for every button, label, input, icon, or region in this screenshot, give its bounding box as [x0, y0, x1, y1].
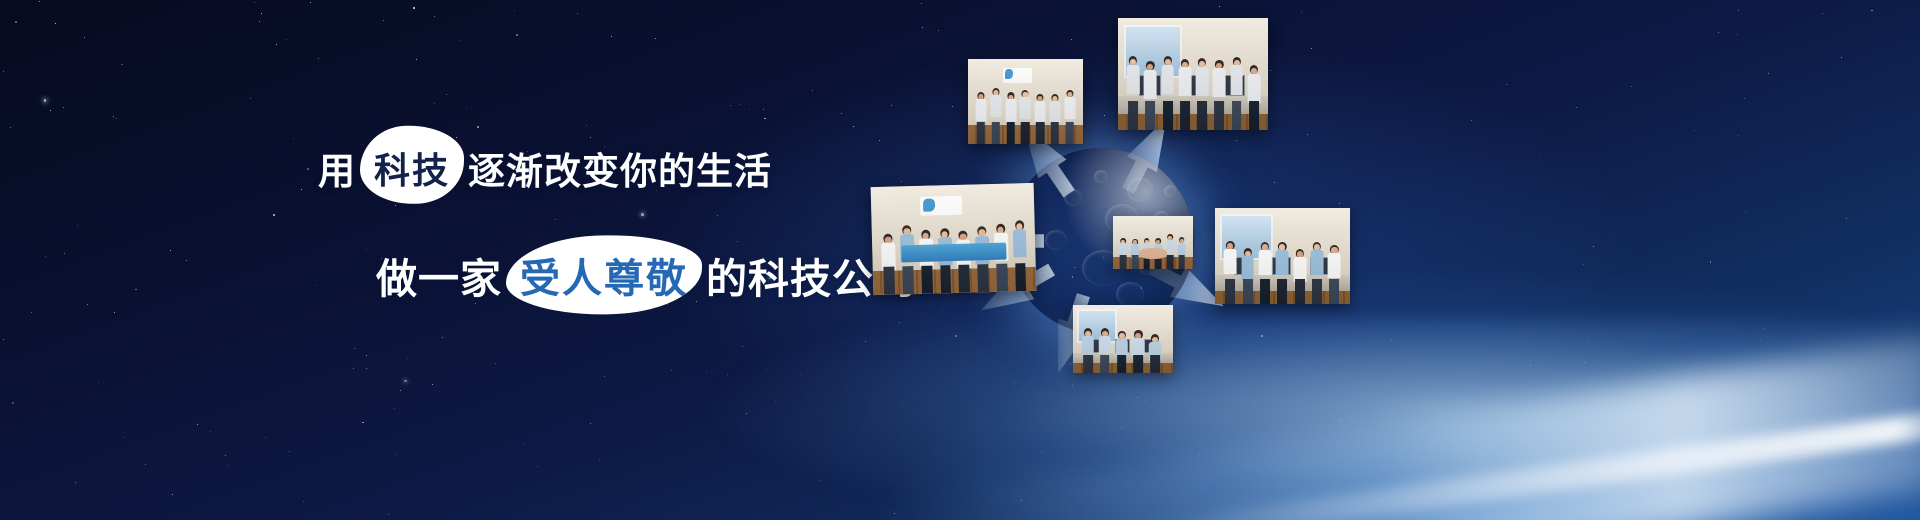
headline-1-highlight: 科技	[360, 140, 464, 196]
star	[1105, 393, 1106, 394]
star	[1593, 246, 1594, 247]
star	[286, 39, 287, 40]
headline-2-part-1: 受人尊敬	[520, 246, 688, 304]
star	[123, 437, 124, 438]
star	[31, 312, 32, 313]
star	[1121, 427, 1122, 428]
headline-1-part-1: 科技	[374, 142, 450, 194]
star	[955, 335, 957, 337]
light-streak	[882, 331, 1920, 520]
star	[766, 369, 767, 370]
star	[1710, 261, 1712, 263]
star	[1145, 401, 1146, 402]
star	[396, 454, 397, 455]
star	[116, 118, 117, 119]
star	[746, 413, 747, 414]
star	[1910, 467, 1911, 468]
star	[416, 59, 417, 60]
star	[354, 348, 355, 349]
star	[64, 253, 65, 254]
star	[952, 106, 953, 107]
star	[764, 118, 766, 120]
star	[590, 423, 591, 424]
star	[749, 109, 750, 110]
star	[75, 482, 76, 483]
star	[197, 424, 198, 425]
star	[1379, 499, 1380, 500]
star	[98, 382, 99, 383]
star	[400, 390, 401, 391]
star	[1137, 397, 1138, 398]
star	[1344, 473, 1345, 474]
star	[1301, 11, 1302, 12]
star	[1219, 6, 1220, 7]
star	[434, 103, 435, 104]
star	[293, 138, 294, 139]
star	[225, 455, 226, 456]
star	[362, 422, 364, 424]
star	[604, 376, 605, 377]
star	[763, 109, 764, 110]
star	[1199, 454, 1200, 455]
star	[706, 371, 708, 373]
star	[1897, 458, 1898, 459]
star	[1311, 48, 1312, 49]
star	[407, 358, 408, 359]
headline-1-part-2: 逐渐改变你的生活	[468, 141, 772, 195]
star	[210, 431, 212, 433]
star	[516, 34, 518, 36]
star	[1846, 218, 1847, 219]
photo-training-room	[1073, 305, 1173, 373]
photo-grade	[968, 59, 1083, 144]
star	[1072, 385, 1073, 386]
star	[922, 27, 923, 28]
star	[1108, 464, 1109, 465]
star	[254, 2, 255, 3]
star	[1675, 439, 1676, 440]
star	[3, 339, 4, 340]
star	[113, 116, 114, 117]
star	[820, 480, 821, 481]
star	[1760, 340, 1761, 341]
star	[310, 2, 311, 3]
star	[1898, 182, 1899, 183]
star	[366, 368, 367, 369]
star	[303, 501, 304, 502]
star	[1738, 135, 1739, 136]
star	[63, 107, 64, 108]
star	[172, 494, 173, 495]
star	[961, 469, 962, 470]
star	[495, 363, 496, 364]
star	[812, 90, 813, 91]
star	[261, 13, 262, 14]
star	[45, 256, 46, 257]
headline-2-highlight: 受人尊敬	[506, 244, 702, 306]
star	[1576, 107, 1577, 108]
star	[1261, 335, 1263, 337]
star	[599, 460, 600, 461]
star	[742, 346, 743, 347]
star	[921, 3, 922, 4]
star	[739, 104, 740, 105]
star	[938, 30, 939, 31]
star	[942, 310, 943, 311]
star	[307, 168, 309, 170]
star	[891, 105, 892, 106]
bottom-glow	[0, 320, 1920, 520]
star	[394, 408, 395, 409]
star	[841, 113, 842, 114]
star	[383, 20, 384, 21]
star	[366, 355, 367, 356]
star	[586, 125, 587, 126]
headline-2: 做一家 受人尊敬 的科技公司!	[376, 244, 936, 306]
star	[39, 1, 40, 2]
star	[865, 341, 867, 343]
star	[1822, 13, 1823, 14]
photo-grade	[1215, 208, 1350, 304]
star	[727, 374, 728, 375]
photo-grade	[1118, 18, 1268, 130]
star	[434, 16, 435, 17]
star	[577, 13, 578, 14]
star	[353, 368, 354, 369]
star	[50, 110, 51, 111]
star	[655, 38, 656, 39]
star	[1583, 264, 1584, 265]
star	[1609, 452, 1611, 454]
star	[273, 214, 275, 216]
star	[537, 466, 538, 467]
star	[413, 7, 415, 9]
star	[259, 21, 260, 22]
star	[1471, 120, 1472, 121]
star	[1587, 339, 1588, 340]
star	[318, 58, 319, 59]
star	[12, 402, 14, 404]
star	[514, 10, 515, 11]
star	[611, 36, 612, 37]
star	[1718, 32, 1719, 33]
star	[1745, 211, 1746, 212]
star	[523, 444, 524, 445]
photo-banner-team	[871, 183, 1037, 295]
star	[135, 289, 137, 291]
star	[446, 94, 447, 95]
star	[1340, 420, 1342, 422]
headline-2-part-0: 做一家	[376, 245, 502, 305]
star	[1314, 343, 1315, 344]
hero-banner: 用 科技 逐渐改变你的生活 做一家 受人尊敬 的科技公司!	[0, 0, 1920, 520]
star	[388, 514, 389, 515]
star	[87, 304, 88, 305]
photo-workstations	[1118, 18, 1268, 130]
star	[1871, 10, 1873, 12]
star	[1498, 371, 1499, 372]
star	[3, 71, 4, 72]
star	[1014, 382, 1015, 383]
star	[265, 437, 266, 438]
star	[121, 64, 123, 66]
star	[432, 384, 433, 385]
star	[800, 374, 801, 375]
star	[289, 451, 290, 452]
star	[1539, 156, 1540, 157]
star	[1736, 34, 1737, 35]
star	[1270, 70, 1271, 71]
photo-grade	[1113, 216, 1193, 269]
star	[775, 401, 776, 402]
star	[894, 513, 895, 514]
star	[114, 312, 115, 313]
star	[671, 370, 672, 371]
star	[1484, 484, 1485, 485]
star	[301, 189, 302, 190]
star	[1744, 98, 1745, 99]
star	[1763, 328, 1764, 329]
star	[186, 260, 187, 261]
star	[1307, 134, 1308, 135]
star	[460, 40, 461, 41]
star	[170, 250, 171, 251]
star	[276, 44, 277, 45]
star	[145, 464, 146, 465]
star	[1391, 339, 1392, 340]
star	[1041, 451, 1042, 452]
star	[55, 23, 56, 24]
star	[316, 285, 317, 286]
photo-meeting-window	[1215, 208, 1350, 304]
star	[77, 225, 78, 226]
light-streak-core	[1146, 408, 1920, 520]
star	[903, 435, 904, 436]
star	[466, 107, 467, 108]
star	[1236, 140, 1237, 141]
headline-1-part-0: 用	[318, 141, 356, 195]
star	[1021, 500, 1022, 501]
headline-1: 用 科技 逐渐改变你的生活	[318, 140, 772, 196]
star	[730, 105, 731, 106]
star	[44, 99, 47, 102]
star	[1339, 203, 1340, 204]
photo-hands-together	[1113, 216, 1193, 269]
photo-team-office-top	[968, 59, 1083, 144]
star	[1530, 365, 1531, 366]
star	[84, 37, 85, 38]
star	[1631, 86, 1632, 87]
headline-group: 用 科技 逐渐改变你的生活 做一家 受人尊敬 的科技公司!	[318, 128, 918, 328]
star	[1584, 362, 1585, 363]
star	[1694, 130, 1695, 131]
photo-grade	[871, 183, 1037, 295]
star	[956, 485, 957, 486]
star	[10, 127, 11, 128]
star	[1841, 57, 1842, 58]
star	[1738, 10, 1739, 11]
star	[1104, 115, 1105, 116]
star	[227, 465, 228, 466]
star	[1506, 84, 1507, 85]
star	[250, 98, 251, 99]
star	[404, 380, 407, 383]
photo-grade	[1073, 305, 1173, 373]
star	[1274, 182, 1275, 183]
star	[1071, 39, 1072, 40]
star	[15, 21, 17, 23]
star	[442, 337, 443, 338]
star	[1768, 73, 1769, 74]
